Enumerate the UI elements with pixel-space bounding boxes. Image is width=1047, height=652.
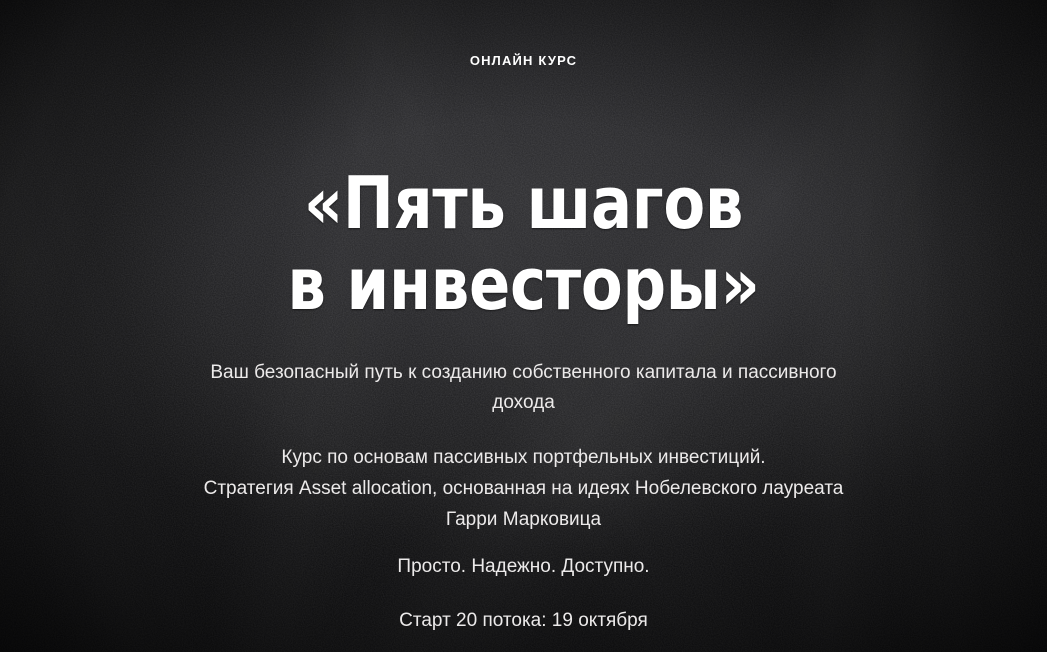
page-title: «Пять шагов в инвесторы» — [31, 163, 1015, 324]
page-title-line-2: в инвесторы» — [31, 244, 1015, 325]
hero-description-line-3: Гарри Марковица — [134, 505, 914, 536]
hero-description-line-2: Стратегия Asset allocation, основанная н… — [134, 474, 914, 505]
course-type-label: ОНЛАЙН КУРС — [0, 53, 1047, 68]
course-start-date: Старт 20 потока: 19 октября — [0, 610, 1047, 632]
hero-subtitle: Ваш безопасный путь к созданию собственн… — [204, 358, 844, 418]
hero-content: ОНЛАЙН КУРС «Пять шагов в инвесторы» Ваш… — [0, 0, 1047, 652]
hero-section: ОНЛАЙН КУРС «Пять шагов в инвесторы» Ваш… — [0, 0, 1047, 652]
page-title-line-1: «Пять шагов — [31, 163, 1015, 244]
hero-description-line-1: Курс по основам пассивных портфельных ин… — [134, 443, 914, 474]
hero-tagline: Просто. Надежно. Доступно. — [0, 556, 1047, 578]
hero-description: Курс по основам пассивных портфельных ин… — [134, 443, 914, 535]
